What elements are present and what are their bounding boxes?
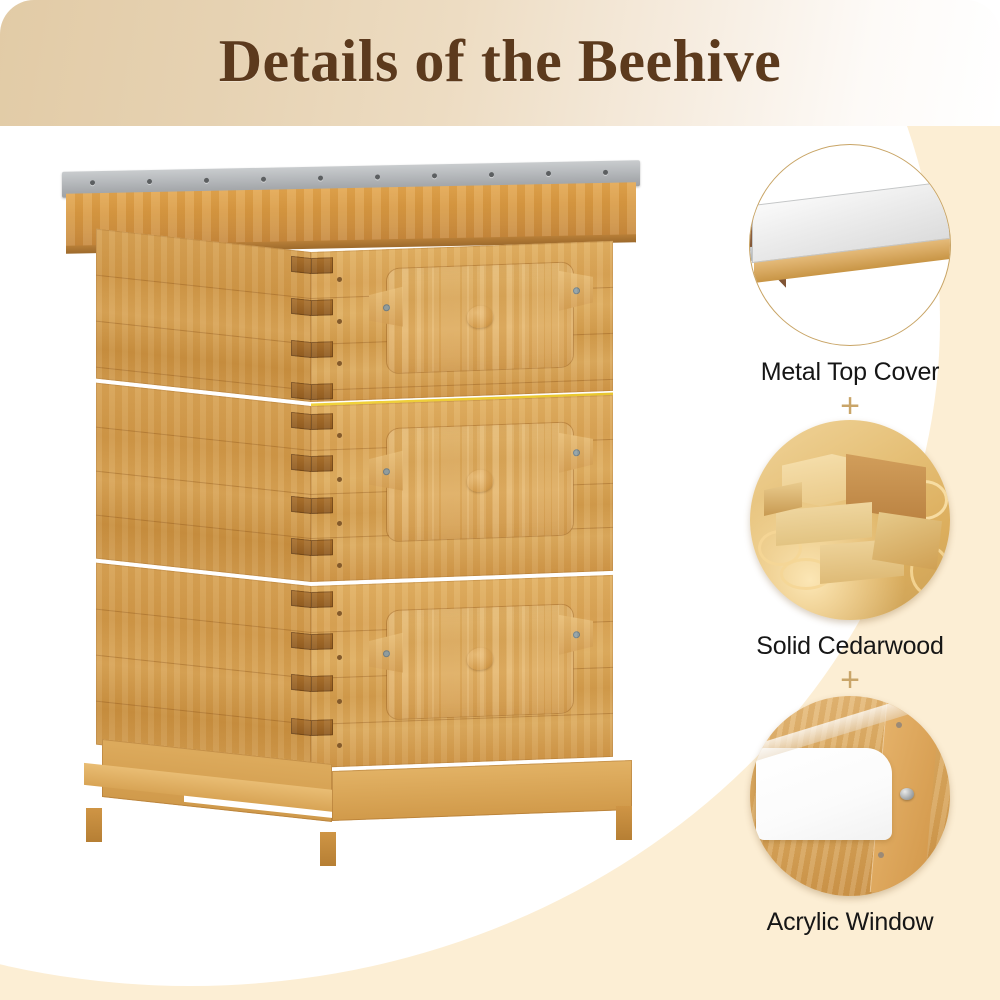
feature-label: Acrylic Window bbox=[700, 908, 1000, 937]
lower-box-screws bbox=[337, 585, 345, 767]
plus-separator: + bbox=[700, 663, 1000, 697]
middle-box-dovetails-right bbox=[311, 405, 333, 582]
middle-box-dovetails-left bbox=[291, 404, 313, 582]
middle-box-front bbox=[311, 395, 613, 582]
feature-list: Metal Top Cover + Solid Cedarw bbox=[700, 130, 1000, 1000]
upper-box-side bbox=[96, 229, 311, 402]
lower-box-dovetails-left bbox=[291, 584, 313, 768]
acrylic-window-icon bbox=[750, 696, 950, 896]
bottom-board bbox=[64, 764, 640, 860]
feature-solid-cedarwood: Solid Cedarwood + bbox=[700, 420, 1000, 697]
feature-label: Metal Top Cover bbox=[700, 358, 1000, 387]
upper-door-knob[interactable] bbox=[467, 305, 493, 328]
bottom-board-leg-right bbox=[616, 806, 632, 840]
metal-top-cover-icon bbox=[749, 144, 951, 346]
upper-box-dovetails-right bbox=[311, 251, 333, 402]
screw-icon bbox=[900, 788, 914, 800]
feature-label: Solid Cedarwood bbox=[700, 632, 1000, 661]
bottom-board-front-rail bbox=[332, 760, 632, 821]
bottom-board-leg-left bbox=[86, 808, 102, 842]
solid-cedarwood-icon bbox=[750, 420, 950, 620]
middle-box-screws bbox=[337, 405, 345, 581]
lower-box-door-panel[interactable] bbox=[387, 604, 573, 719]
page-title: Details of the Beehive bbox=[0, 0, 1000, 126]
plank-lines bbox=[96, 229, 311, 402]
upper-box-front bbox=[311, 241, 613, 402]
upper-box-screws bbox=[337, 251, 345, 401]
plus-separator: + bbox=[700, 389, 1000, 423]
lower-door-knob[interactable] bbox=[467, 647, 493, 670]
upper-box-dovetails-left bbox=[291, 250, 313, 402]
middle-box-side bbox=[96, 383, 311, 582]
bottom-board-leg-mid bbox=[320, 832, 336, 866]
lower-box-side bbox=[96, 563, 311, 768]
header-banner: Details of the Beehive bbox=[0, 0, 1000, 126]
lower-box-front bbox=[311, 575, 613, 768]
middle-door-knob[interactable] bbox=[467, 469, 493, 492]
plank-lines bbox=[96, 383, 311, 582]
middle-box-door-panel[interactable] bbox=[387, 422, 573, 541]
lower-box-dovetails-right bbox=[311, 585, 333, 768]
feature-acrylic-window: Acrylic Window bbox=[700, 696, 1000, 937]
plank-lines bbox=[96, 563, 311, 768]
product-infographic: Details of the Beehive bbox=[0, 0, 1000, 1000]
beehive-illustration bbox=[52, 152, 652, 872]
feature-metal-top-cover: Metal Top Cover + bbox=[700, 144, 1000, 423]
upper-box-door-panel[interactable] bbox=[387, 262, 573, 373]
